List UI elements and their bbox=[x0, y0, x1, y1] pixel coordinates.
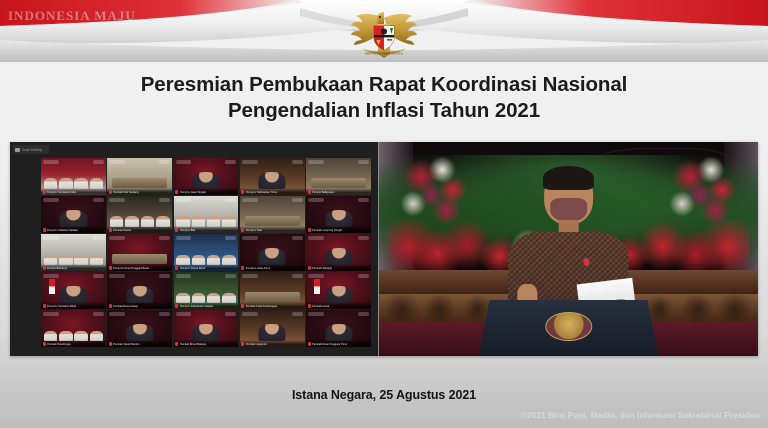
tile-toolbar-right bbox=[292, 236, 303, 240]
microphone-muted-icon bbox=[241, 304, 244, 308]
microphone-muted-icon bbox=[109, 190, 112, 194]
participant-tile[interactable]: Pemkab Bantul bbox=[107, 196, 172, 233]
title-line-2: Pengendalian Inflasi Tahun 2021 bbox=[0, 98, 768, 124]
microphone-muted-icon bbox=[175, 190, 178, 194]
tile-toolbar bbox=[308, 235, 369, 240]
participant-name: Pemkab Banyuwangi bbox=[113, 305, 137, 308]
tile-toolbar-right bbox=[225, 274, 236, 278]
meeting-table bbox=[112, 178, 166, 188]
participant-person bbox=[126, 324, 153, 341]
tile-toolbar-left bbox=[109, 198, 125, 202]
participant-name: Pemkot Bandung bbox=[47, 267, 67, 270]
participant-tile[interactable]: Pemkab Lampung Tengah bbox=[306, 196, 371, 233]
tile-toolbar bbox=[176, 197, 237, 202]
participant-tile[interactable]: Pemkab Tanah Bumbu bbox=[107, 310, 172, 347]
participant-name: Pemkab Gowa bbox=[312, 305, 329, 308]
tile-toolbar-left bbox=[308, 160, 324, 164]
location-date-caption: Istana Negara, 25 Agustus 2021 bbox=[0, 388, 768, 402]
tile-toolbar bbox=[43, 235, 104, 240]
participant-name: Pemprov Sumatera Utara bbox=[47, 191, 76, 194]
participant-tile[interactable]: Pemkot Balikpapan bbox=[306, 158, 371, 195]
microphone-muted-icon bbox=[175, 266, 178, 270]
participant-tile[interactable]: Pemprov Kalimantan Selatan bbox=[174, 272, 239, 309]
participant-name: Pemprov Bali bbox=[180, 229, 195, 232]
participant-tile[interactable]: Pemkab Nusa Tenggara Timur bbox=[306, 310, 371, 347]
tile-toolbar-right bbox=[93, 312, 104, 316]
tile-toolbar-right bbox=[292, 274, 303, 278]
tile-toolbar-left bbox=[242, 312, 258, 316]
participant-name-bar: Pemprov Bali bbox=[174, 226, 239, 233]
participant-person bbox=[192, 172, 219, 189]
microphone-muted-icon bbox=[43, 190, 46, 194]
participant-name: Pemkab Pekalongan bbox=[47, 343, 71, 346]
participant-name-bar: Pemkot Balikpapan bbox=[306, 188, 371, 195]
tile-toolbar-left bbox=[308, 312, 324, 316]
camera-icon bbox=[15, 148, 20, 152]
participant-group bbox=[176, 212, 236, 227]
tile-toolbar bbox=[176, 311, 237, 316]
participant-person bbox=[325, 324, 352, 341]
participant-name: Pemkab Lampung Tengah bbox=[312, 229, 342, 232]
microphone-muted-icon bbox=[43, 266, 46, 270]
participant-name-bar: Pemkab Pekalongan bbox=[41, 340, 106, 347]
participant-group bbox=[44, 326, 104, 341]
participant-name-bar: Pemkot Bandung bbox=[41, 264, 106, 271]
participant-tile[interactable]: Pemkab Gowa bbox=[306, 272, 371, 309]
participant-person bbox=[60, 286, 87, 303]
tile-toolbar-right bbox=[358, 198, 369, 202]
copyright-watermark: ©2021 Biro Pers, Media, dan Informasi Se… bbox=[521, 410, 760, 420]
meeting-table bbox=[245, 292, 299, 302]
participant-name-bar: Pemprov Sulawesi Selatan bbox=[41, 226, 106, 233]
tile-toolbar-right bbox=[358, 312, 369, 316]
tile-toolbar-left bbox=[176, 198, 192, 202]
participant-name-bar: Pemkab Jayapura bbox=[240, 340, 305, 347]
tile-toolbar-left bbox=[242, 198, 258, 202]
participant-tile[interactable]: Pemkab Banyuwangi bbox=[107, 272, 172, 309]
tile-toolbar-left bbox=[308, 198, 324, 202]
participant-person bbox=[325, 210, 352, 227]
participant-tile[interactable]: Pemkab Bone Bolango bbox=[174, 310, 239, 347]
tile-toolbar-right bbox=[159, 198, 170, 202]
tile-toolbar bbox=[109, 197, 170, 202]
tile-toolbar-right bbox=[225, 198, 236, 202]
tile-toolbar-left bbox=[242, 160, 258, 164]
participant-tile[interactable]: Pemprov Sumatera Barat bbox=[41, 272, 106, 309]
speaker-figure bbox=[508, 168, 629, 356]
tile-toolbar-left bbox=[242, 274, 258, 278]
tile-toolbar-right bbox=[292, 160, 303, 164]
microphone-muted-icon bbox=[175, 342, 178, 346]
participant-name: Pemprov Jawa Timur bbox=[246, 267, 270, 270]
participant-name: Pemkab Deli Serdang bbox=[113, 191, 138, 194]
participant-group bbox=[176, 288, 236, 303]
tile-toolbar-right bbox=[93, 274, 104, 278]
participant-name-bar: Pemkab Bone Bolango bbox=[174, 340, 239, 347]
participant-grid: Pemprov Sumatera UtaraPemkab Deli Serdan… bbox=[41, 158, 371, 347]
svg-text:BHINNEKA TUNGGAL IKA: BHINNEKA TUNGGAL IKA bbox=[365, 51, 404, 55]
tile-toolbar-left bbox=[109, 160, 125, 164]
participant-name-bar: Pemprov Nusa Tenggara Barat bbox=[107, 264, 172, 271]
microphone-muted-icon bbox=[43, 228, 46, 232]
tile-toolbar-right bbox=[93, 160, 104, 164]
microphone-muted-icon bbox=[241, 266, 244, 270]
tile-toolbar bbox=[43, 159, 104, 164]
participant-person bbox=[192, 324, 219, 341]
participant-name-bar: Pemprov Sumatera Barat bbox=[41, 302, 106, 309]
tile-toolbar-right bbox=[225, 312, 236, 316]
participant-person bbox=[259, 324, 286, 341]
microphone-muted-icon bbox=[43, 342, 46, 346]
participant-name: Pemkab Jayapura bbox=[246, 343, 267, 346]
tile-toolbar-right bbox=[225, 160, 236, 164]
tile-toolbar-left bbox=[43, 236, 59, 240]
microphone-muted-icon bbox=[308, 304, 311, 308]
tile-toolbar bbox=[242, 311, 303, 316]
tile-toolbar-left bbox=[109, 236, 125, 240]
tile-toolbar-right bbox=[358, 160, 369, 164]
tile-toolbar-right bbox=[159, 274, 170, 278]
participant-person bbox=[259, 172, 286, 189]
tile-toolbar bbox=[308, 159, 369, 164]
microphone-muted-icon bbox=[308, 342, 311, 346]
participant-tile[interactable]: Pemprov Sulawesi Selatan bbox=[41, 196, 106, 233]
tile-toolbar bbox=[43, 311, 104, 316]
participant-tile[interactable]: Pemprov Kalimantan Timur bbox=[240, 158, 305, 195]
tile-toolbar-left bbox=[43, 160, 59, 164]
tile-toolbar-left bbox=[176, 160, 192, 164]
participant-name: Pemkab Sidoarjo bbox=[312, 267, 332, 270]
tile-toolbar-right bbox=[358, 236, 369, 240]
tile-toolbar-left bbox=[43, 312, 59, 316]
participant-group bbox=[176, 250, 236, 265]
tile-toolbar bbox=[308, 273, 369, 278]
zoom-gallery-panel[interactable]: Zoom Meeting Pemprov Sumatera UtaraPemka… bbox=[10, 142, 378, 356]
participant-name-bar: Pemprov Sumatera Utara bbox=[41, 188, 106, 195]
participant-person bbox=[325, 286, 352, 303]
participant-tile[interactable]: Pemkab Kutai Kartanegara bbox=[240, 272, 305, 309]
participant-name-bar: Pemkab Sidoarjo bbox=[306, 264, 371, 271]
tile-toolbar-right bbox=[159, 160, 170, 164]
podium-camera-panel[interactable] bbox=[378, 142, 758, 356]
tile-toolbar-left bbox=[43, 274, 59, 278]
participant-tile[interactable]: Pemprov Jawa Tengah bbox=[174, 158, 239, 195]
participant-name-bar: Pemprov Jawa Tengah bbox=[174, 188, 239, 195]
tile-toolbar bbox=[242, 235, 303, 240]
microphone-muted-icon bbox=[241, 190, 244, 194]
tile-toolbar-left bbox=[308, 274, 324, 278]
title-line-1: Peresmian Pembukaan Rapat Koordinasi Nas… bbox=[0, 72, 768, 98]
participant-name-bar: Pemprov Jawa Timur bbox=[240, 264, 305, 271]
participant-name-bar: Pemkab Nusa Tenggara Timur bbox=[306, 340, 371, 347]
microphone-muted-icon bbox=[109, 342, 112, 346]
tile-toolbar-left bbox=[176, 312, 192, 316]
presidential-seal bbox=[545, 312, 592, 341]
tile-toolbar bbox=[176, 235, 237, 240]
participant-name: Pemprov Sumatera Barat bbox=[47, 305, 76, 308]
microphone-muted-icon bbox=[109, 304, 112, 308]
tile-toolbar bbox=[308, 311, 369, 316]
participant-tile[interactable]: Pemprov Riau bbox=[240, 196, 305, 233]
participant-name: Pemprov Kalimantan Selatan bbox=[180, 305, 214, 308]
participant-tile[interactable]: Pemkab Sidoarjo bbox=[306, 234, 371, 271]
participant-name-bar: Pemprov Papua Barat bbox=[174, 264, 239, 271]
participant-tile[interactable]: Pemprov Jawa Timur bbox=[240, 234, 305, 271]
zoom-app-label-text: Zoom Meeting bbox=[22, 148, 42, 152]
participant-name-bar: Pemkab Bantul bbox=[107, 226, 172, 233]
microphone-muted-icon bbox=[175, 228, 178, 232]
participant-tile[interactable]: Pemprov Nusa Tenggara Barat bbox=[107, 234, 172, 271]
garuda-pancasila-emblem: BHINNEKA TUNGGAL IKA bbox=[344, 4, 424, 64]
participant-name: Pemprov Jawa Tengah bbox=[180, 191, 206, 194]
tile-toolbar bbox=[43, 273, 104, 278]
participant-name: Pemkab Tanah Bumbu bbox=[113, 343, 139, 346]
tile-toolbar-left bbox=[176, 236, 192, 240]
participant-name: Pemprov Kalimantan Timur bbox=[246, 191, 277, 194]
tile-toolbar-right bbox=[358, 274, 369, 278]
podium bbox=[479, 300, 658, 356]
tile-toolbar bbox=[109, 159, 170, 164]
microphone-muted-icon bbox=[241, 228, 244, 232]
indonesian-flag bbox=[49, 279, 55, 294]
tile-toolbar bbox=[176, 159, 237, 164]
participant-name-bar: Pemprov Kalimantan Timur bbox=[240, 188, 305, 195]
tile-toolbar-left bbox=[242, 236, 258, 240]
tile-toolbar-left bbox=[109, 312, 125, 316]
tile-toolbar-left bbox=[176, 274, 192, 278]
participant-person bbox=[259, 248, 286, 265]
participant-tile[interactable]: Pemprov Sumatera Utara bbox=[41, 158, 106, 195]
participant-person bbox=[60, 210, 87, 227]
meeting-table bbox=[311, 178, 365, 188]
tile-toolbar-right bbox=[93, 236, 104, 240]
participant-name: Pemkab Bantul bbox=[113, 229, 131, 232]
participant-group bbox=[44, 174, 104, 189]
speaker-hair bbox=[543, 166, 594, 190]
tile-toolbar bbox=[176, 273, 237, 278]
tile-toolbar-right bbox=[225, 236, 236, 240]
tile-toolbar bbox=[109, 311, 170, 316]
participant-name: Pemkab Kutai Kartanegara bbox=[246, 305, 277, 308]
tile-toolbar-right bbox=[292, 198, 303, 202]
meeting-table bbox=[112, 254, 166, 264]
participant-name-bar: Pemkab Gowa bbox=[306, 302, 371, 309]
participant-name-bar: Pemkab Kutai Kartanegara bbox=[240, 302, 305, 309]
tile-toolbar-right bbox=[159, 312, 170, 316]
tile-toolbar-left bbox=[308, 236, 324, 240]
participant-tile[interactable]: Pemprov Papua Barat bbox=[174, 234, 239, 271]
microphone-muted-icon bbox=[109, 228, 112, 232]
tile-toolbar-right bbox=[93, 198, 104, 202]
tile-toolbar-right bbox=[292, 312, 303, 316]
meeting-table bbox=[245, 216, 299, 226]
microphone-muted-icon bbox=[308, 266, 311, 270]
participant-tile[interactable]: Pemkot Bandung bbox=[41, 234, 106, 271]
microphone-muted-icon bbox=[241, 342, 244, 346]
participant-name-bar: Pemkab Deli Serdang bbox=[107, 188, 172, 195]
participant-name: Pemkot Balikpapan bbox=[312, 191, 334, 194]
participant-name: Pemprov Sulawesi Selatan bbox=[47, 229, 78, 232]
participant-name: Pemkab Bone Bolango bbox=[180, 343, 207, 346]
participant-name-bar: Pemkab Banyuwangi bbox=[107, 302, 172, 309]
tile-toolbar bbox=[308, 197, 369, 202]
participant-name-bar: Pemprov Kalimantan Selatan bbox=[174, 302, 239, 309]
tile-toolbar bbox=[242, 159, 303, 164]
tile-toolbar bbox=[242, 197, 303, 202]
participant-person bbox=[325, 248, 352, 265]
presentation-slide: INDONESIA MAJU bbox=[0, 0, 768, 428]
participant-person bbox=[126, 286, 153, 303]
tile-toolbar bbox=[109, 273, 170, 278]
video-stage: Zoom Meeting Pemprov Sumatera UtaraPemka… bbox=[10, 142, 758, 356]
tile-toolbar bbox=[43, 197, 104, 202]
microphone-muted-icon bbox=[308, 228, 311, 232]
microphone-muted-icon bbox=[43, 304, 46, 308]
tile-toolbar-left bbox=[43, 198, 59, 202]
microphone-muted-icon bbox=[109, 266, 112, 270]
participant-tile[interactable]: Pemkab Pekalongan bbox=[41, 310, 106, 347]
tile-toolbar bbox=[109, 235, 170, 240]
participant-name-bar: Pemkab Tanah Bumbu bbox=[107, 340, 172, 347]
participant-tile[interactable]: Pemprov Bali bbox=[174, 196, 239, 233]
participant-name: Pemprov Nusa Tenggara Barat bbox=[113, 267, 149, 270]
participant-name: Pemprov Papua Barat bbox=[180, 267, 206, 270]
participant-group bbox=[110, 212, 170, 227]
participant-name-bar: Pemkab Lampung Tengah bbox=[306, 226, 371, 233]
participant-tile[interactable]: Pemkab Deli Serdang bbox=[107, 158, 172, 195]
microphone-muted-icon bbox=[175, 304, 178, 308]
participant-name-bar: Pemprov Riau bbox=[240, 226, 305, 233]
zoom-app-label: Zoom Meeting bbox=[13, 145, 49, 154]
indonesian-flag bbox=[314, 279, 320, 294]
page-title: Peresmian Pembukaan Rapat Koordinasi Nas… bbox=[0, 72, 768, 124]
garuda-emblem-graphic: BHINNEKA TUNGGAL IKA bbox=[344, 4, 424, 64]
tile-toolbar bbox=[242, 273, 303, 278]
participant-tile[interactable]: Pemkab Jayapura bbox=[240, 310, 305, 347]
tile-toolbar-left bbox=[109, 274, 125, 278]
participant-group bbox=[44, 250, 104, 265]
participant-name: Pemprov Riau bbox=[246, 229, 262, 232]
tile-toolbar-right bbox=[159, 236, 170, 240]
microphone-muted-icon bbox=[308, 190, 311, 194]
participant-name: Pemkab Nusa Tenggara Timur bbox=[312, 343, 347, 346]
